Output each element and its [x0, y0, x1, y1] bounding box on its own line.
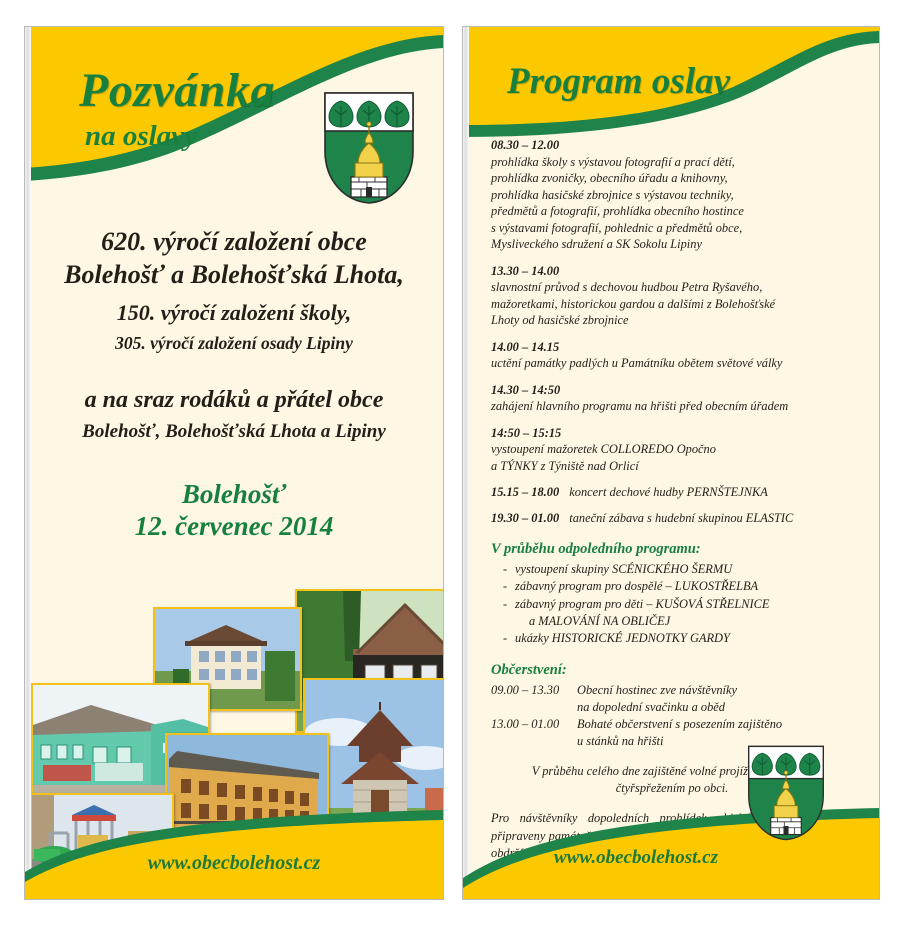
bullet-dash-icon: -	[503, 596, 507, 613]
schedule-desc-line: prohlídka zvoničky, obecního úřadu a kni…	[491, 170, 853, 187]
schedule-item: 08.30 – 12.00 prohlídka školy s výstavou…	[491, 137, 853, 253]
list-item-label: zábavný program pro dospělé – LUKOSTŘELB…	[515, 579, 758, 593]
schedule-desc-line: a TÝNKY z Týniště nad Orlicí	[491, 458, 853, 475]
page-subtitle: na oslavy	[85, 122, 197, 151]
schedule-desc-line: mažoretkami, historickou gardou a dalším…	[491, 296, 853, 313]
schedule-time: 14.00 – 14.15	[491, 339, 853, 356]
headline-line-1: 620. výročí založení obce	[25, 225, 443, 258]
schedule-desc-line: s výstavami fotografií, pohlednic a před…	[491, 220, 853, 237]
schedule-desc-line: zahájení hlavního programu na hřišti pře…	[491, 398, 853, 415]
list-item: - ukázky HISTORICKÉ JEDNOTKY GARDY	[491, 630, 853, 647]
meeting-line: a na sraz rodáků a přátel obce	[25, 385, 443, 416]
flyer-sheet: Pozvánka na oslavy	[0, 0, 900, 925]
schedule-time: 08.30 – 12.00	[491, 137, 853, 154]
bullet-dash-icon: -	[503, 561, 507, 578]
event-date: 12. červenec 2014	[25, 511, 443, 543]
schedule-item-inline: 19.30 – 01.00 taneční zábava s hudební s…	[491, 510, 853, 527]
bolehost-coat-of-arms-icon-footer	[745, 743, 827, 843]
schedule-desc-line: uctění památky padlých u Památníku oběte…	[491, 355, 853, 372]
refreshment-desc: Obecní hostinec zve návštěvníkyna dopole…	[577, 682, 737, 716]
refreshment-time: 09.00 – 13.30	[491, 682, 577, 699]
list-item-label: ukázky HISTORICKÉ JEDNOTKY GARDY	[515, 631, 730, 645]
schedule-item: 13.30 – 14.00 slavnostní průvod s dechov…	[491, 263, 853, 329]
left-body-text: 620. výročí založení obce Bolehošť a Bol…	[25, 187, 443, 542]
bolehost-coat-of-arms-icon	[321, 89, 417, 207]
refreshment-heading: Občerstvení:	[491, 661, 853, 680]
schedule-desc-line: Lhoty od hasičské zbrojnice	[491, 312, 853, 329]
refreshment-desc-line: Bohaté občerstvení s posezením zajištěno	[577, 716, 782, 733]
list-item: - vystoupení skupiny SCÉNICKÉHO ŠERMU	[491, 561, 853, 578]
left-panel-invitation: Pozvánka na oslavy	[24, 26, 444, 900]
schedule-time: 14:50 – 15:15	[491, 425, 853, 442]
refreshment-item: 09.00 – 13.30Obecní hostinec zve návštěv…	[491, 682, 853, 716]
list-item: - zábavný program pro dospělé – LUKOSTŘE…	[491, 578, 853, 595]
meeting-places: Bolehošť, Bolehošťská Lhota a Lipiny	[25, 420, 443, 445]
refreshment-desc-line: Obecní hostinec zve návštěvníky	[577, 682, 737, 699]
page-title: Pozvánka	[79, 67, 275, 115]
refreshment-time: 13.00 – 01.00	[491, 716, 577, 733]
schedule-desc-line: předmětů a fotografií, prohlídka obecníh…	[491, 203, 853, 220]
list-item-label: vystoupení skupiny SCÉNICKÉHO ŠERMU	[515, 562, 732, 576]
schedule-time: 19.30 – 01.00	[491, 511, 559, 525]
schedule-item: 14.00 – 14.15 uctění památky padlých u P…	[491, 339, 853, 372]
bullet-dash-icon: -	[503, 630, 507, 647]
schedule-time: 14.30 – 14:50	[491, 382, 853, 399]
schedule-desc-line: Mysliveckého sdružení a SK Sokolu Lipiny	[491, 236, 853, 253]
right-panel-program: Program oslav 08.30 – 12.00 prohlídka šk…	[462, 26, 880, 900]
schedule-time: 13.30 – 14.00	[491, 263, 853, 280]
schedule-time: 15.15 – 18.00	[491, 485, 559, 499]
panel-edge-artifact	[25, 27, 31, 899]
event-place: Bolehošť	[25, 479, 443, 511]
schedule-desc-line: prohlídka školy s výstavou fotografií a …	[491, 154, 853, 171]
afternoon-program-list: - vystoupení skupiny SCÉNICKÉHO ŠERMU - …	[491, 561, 853, 647]
schedule-desc: taneční zábava s hudební skupinou ELASTI…	[569, 511, 793, 525]
list-item-continuation: a MALOVÁNÍ NA OBLIČEJ	[515, 613, 853, 630]
left-footer-banner	[25, 794, 443, 899]
headline-line-3: 150. výročí založení školy,	[25, 299, 443, 328]
schedule-desc-line: prohlídka hasičské zbrojnice s výstavou …	[491, 187, 853, 204]
schedule-desc: koncert dechové hudby PERNŠTEJNKA	[569, 485, 768, 499]
schedule-item: 14:50 – 15:15 vystoupení mažoretek COLLO…	[491, 425, 853, 475]
headline-line-4: 305. výročí založení osady Lipiny	[25, 332, 443, 355]
bullet-dash-icon: -	[503, 578, 507, 595]
schedule-item-inline: 15.15 – 18.00 koncert dechové hudby PERN…	[491, 484, 853, 501]
schedule-item: 14.30 – 14:50 zahájení hlavního programu…	[491, 382, 853, 415]
refreshment-desc-line: na dopolední svačinku a oběd	[577, 699, 737, 716]
panel-edge-artifact-right	[463, 27, 469, 899]
website-link-right[interactable]: www.obecbolehost.cz	[463, 847, 879, 869]
schedule-desc-line: vystoupení mažoretek COLLOREDO Opočno	[491, 441, 853, 458]
program-title: Program oslav	[507, 60, 730, 103]
list-item-label: zábavný program pro děti – KUŠOVÁ STŘELN…	[515, 597, 769, 611]
schedule-desc-line: slavnostní průvod s dechovou hudbou Petr…	[491, 279, 853, 296]
headline-line-2: Bolehošť a Bolehošťská Lhota,	[25, 258, 443, 291]
afternoon-program-heading: V průběhu odpoledního programu:	[491, 540, 853, 559]
list-item: - zábavný program pro děti – KUŠOVÁ STŘE…	[491, 596, 853, 630]
website-link-left[interactable]: www.obecbolehost.cz	[25, 852, 443, 875]
